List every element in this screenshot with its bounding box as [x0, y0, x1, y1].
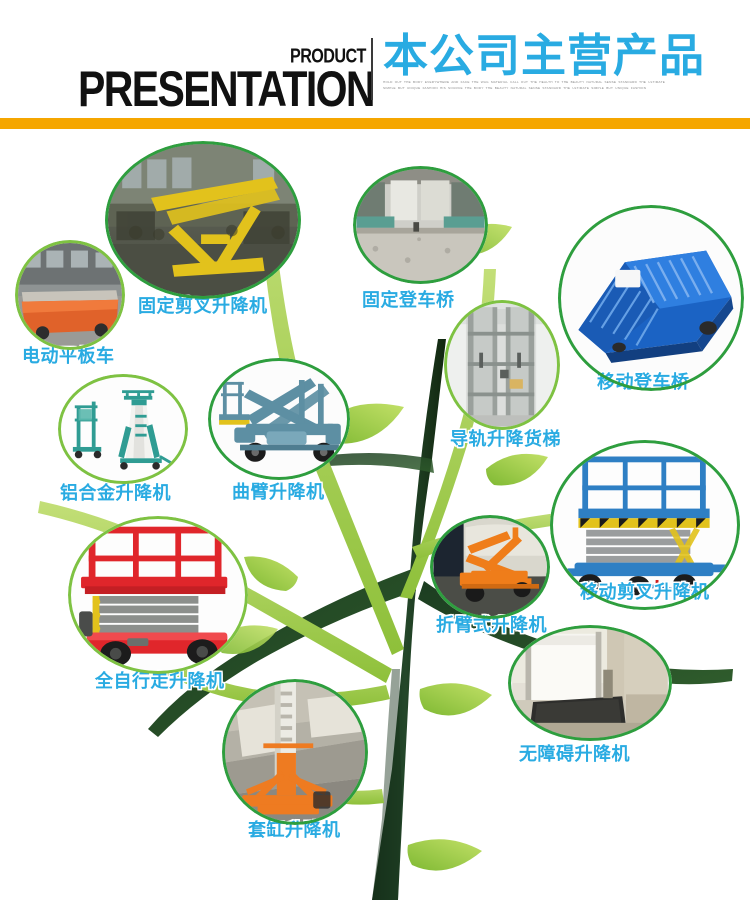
header-divider [371, 38, 373, 100]
poster-header: PRODUCT PRESENTATION 本公司主营产品 HOLD OUT TH… [0, 0, 750, 118]
product-photo-accessible-lift[interactable] [508, 625, 672, 741]
product-label-telescopic-cylinder-lift: 套缸升降机 [248, 816, 341, 842]
product-label-fixed-dock-leveler: 固定登车桥 [362, 286, 455, 312]
product-label-aluminum-alloy-lift: 铝合金升降机 [60, 479, 171, 505]
page-title: PRESENTATION [78, 61, 374, 118]
product-label-mobile-dock-ramp: 移动登车桥 [597, 368, 690, 394]
product-label-accessible-lift: 无障碍升降机 [519, 740, 630, 766]
product-photo-mobile-dock-ramp[interactable] [558, 205, 744, 391]
product-photo-fixed-scissor-lift[interactable] [105, 141, 301, 299]
product-label-self-propelled-lift: 全自行走升降机 [95, 667, 225, 693]
chinese-headline: 本公司主营产品 [383, 33, 705, 79]
product-photo-articulating-boom-lift[interactable] [208, 358, 350, 480]
product-label-articulating-boom-lift: 曲臂升降机 [232, 478, 325, 504]
header-microcopy: HOLD OUT THE BODY EVERYWHERE AND FACE TH… [383, 80, 673, 98]
product-label-mobile-scissor-lift: 移动剪叉升降机 [580, 578, 710, 604]
product-photo-self-propelled-lift[interactable] [68, 516, 248, 674]
accent-bar [0, 118, 750, 129]
product-label-guide-rail-cargo-lift: 导轨升降货梯 [450, 425, 561, 451]
product-photo-guide-rail-cargo-lift[interactable] [444, 300, 560, 430]
product-photo-telescopic-cylinder-lift[interactable] [222, 679, 368, 825]
english-headline-block: PRODUCT PRESENTATION [78, 45, 368, 105]
product-photo-aluminum-alloy-lift[interactable] [58, 374, 188, 484]
product-photo-folding-arm-lift[interactable] [430, 515, 550, 619]
product-presentation-poster: PRODUCT PRESENTATION 本公司主营产品 HOLD OUT TH… [0, 0, 750, 900]
product-label-electric-flatbed-cart: 电动平板车 [22, 342, 115, 368]
product-photo-electric-flatbed-cart[interactable] [15, 240, 125, 350]
product-label-fixed-scissor-lift: 固定剪叉升降机 [138, 292, 268, 318]
product-photo-fixed-dock-leveler[interactable] [353, 166, 488, 284]
